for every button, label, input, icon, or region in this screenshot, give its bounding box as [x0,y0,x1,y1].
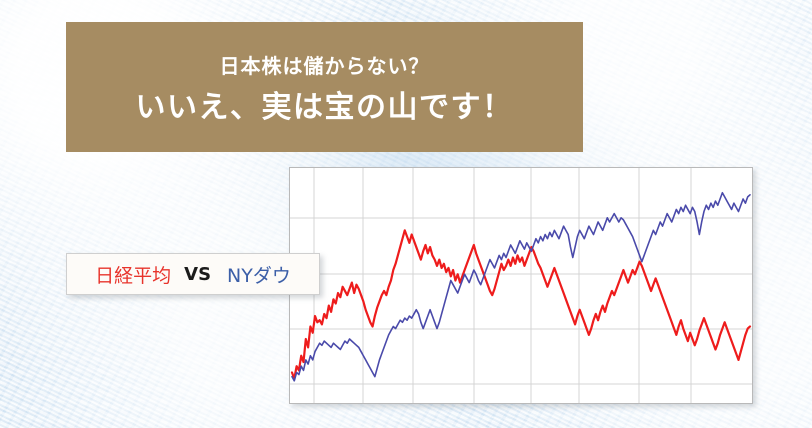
line-chart [290,168,752,403]
legend-label-nikkei: 日経平均 [95,261,171,288]
title-banner: 日本株は儲からない？ いいえ、実は宝の山です！ [66,22,583,152]
slide-root: 日本株は儲からない？ いいえ、実は宝の山です！ 日経平均 VS NYダウ [0,0,812,428]
title-line-secondary: いいえ、実は宝の山です！ [136,91,514,124]
legend-label-dow: NYダウ [227,261,291,288]
chart-plot-background [290,168,752,403]
title-line-primary: 日本株は儲からない？ [220,55,430,77]
legend-callout: 日経平均 VS NYダウ [66,253,320,295]
legend-label-vs: VS [184,264,211,285]
chart-panel [289,167,753,404]
